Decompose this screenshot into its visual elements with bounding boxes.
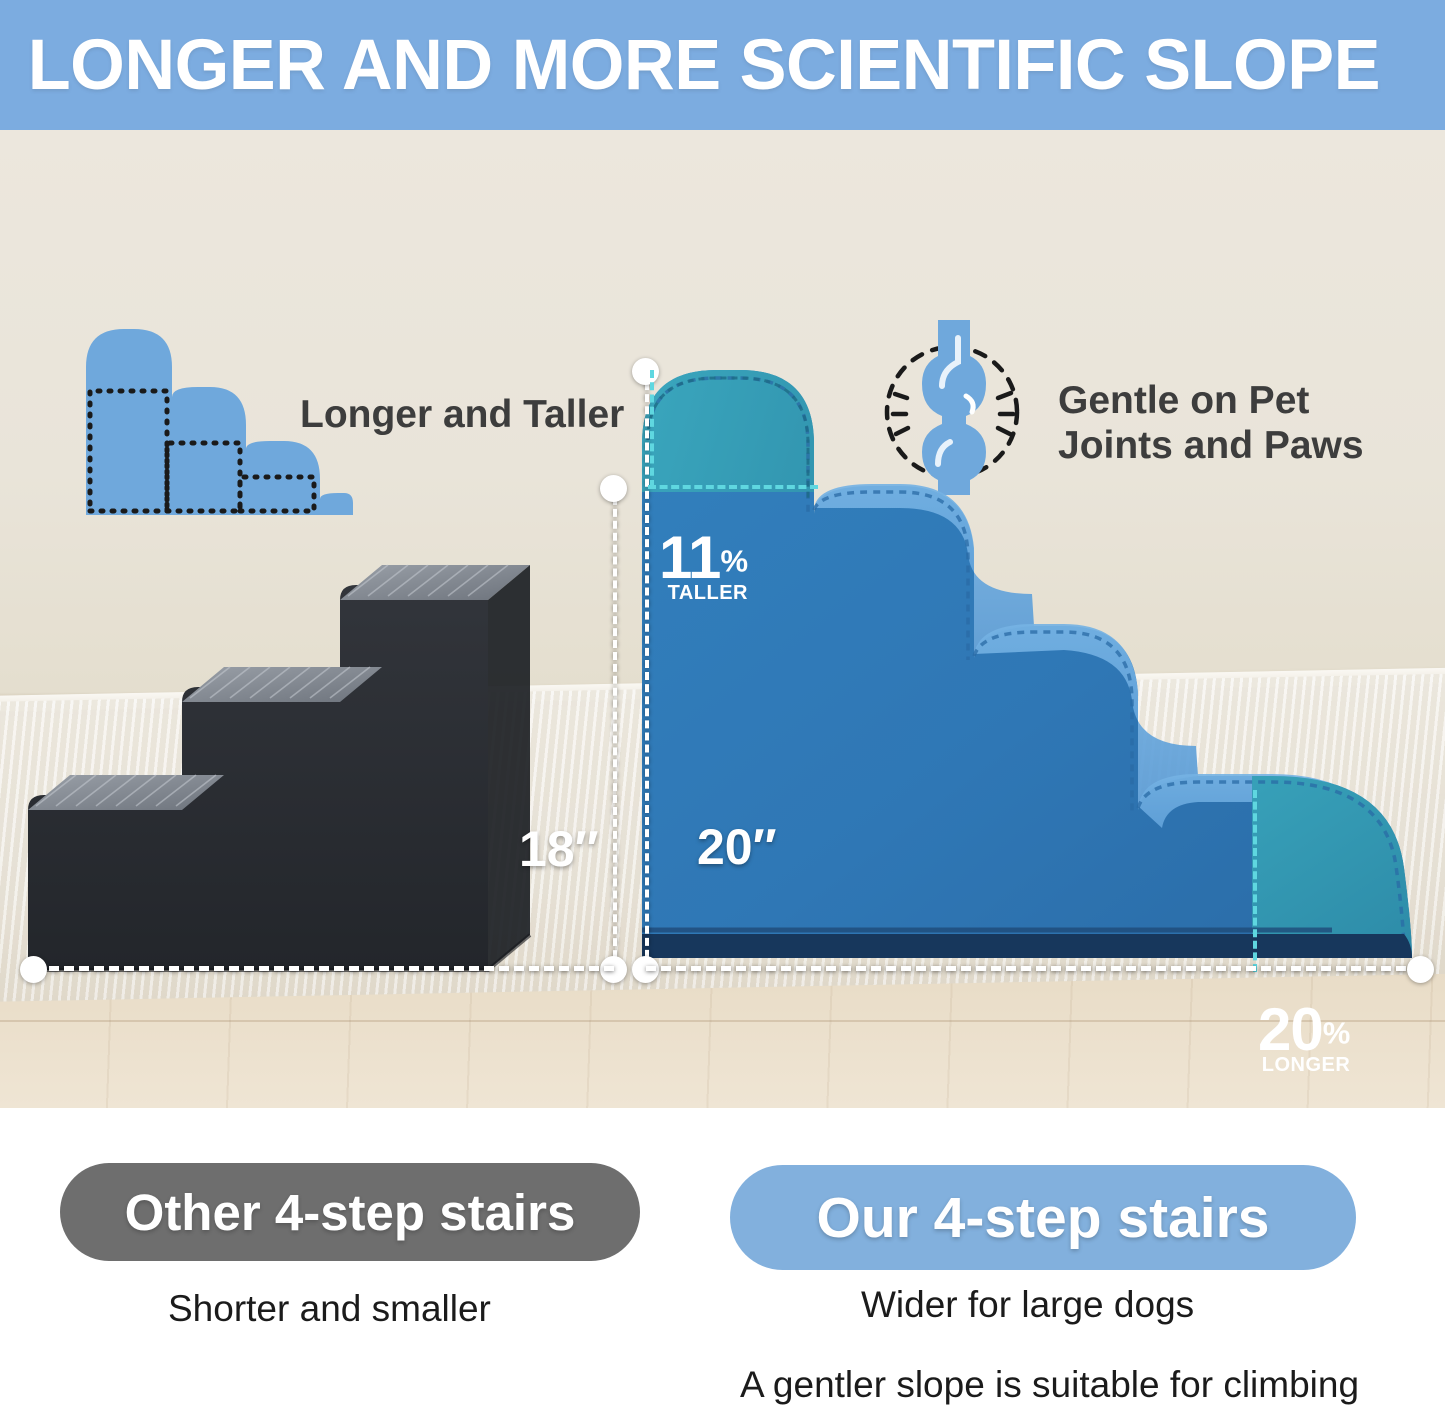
page-title: LONGER AND MORE SCIENTIFIC SLOPE bbox=[0, 25, 1380, 106]
badge-taller-percent: % bbox=[720, 544, 748, 579]
badge-taller-value: 11 bbox=[659, 524, 720, 591]
comparison-summary: Other 4-step stairs Our 4-step stairs Sh… bbox=[0, 1108, 1445, 1399]
taller-band-guide bbox=[648, 485, 818, 489]
other-stairs-product bbox=[10, 475, 625, 975]
measure-dot-29-right bbox=[1407, 956, 1434, 983]
badge-longer: 20% LONGER bbox=[1258, 1000, 1350, 1077]
description-ours-line-1: Wider for large dogs bbox=[861, 1284, 1194, 1326]
measure-dot-other-top bbox=[600, 475, 627, 502]
header-banner: LONGER AND MORE SCIENTIFIC SLOPE bbox=[0, 0, 1445, 130]
dimension-height-ours: 20″ bbox=[697, 818, 777, 876]
height-line-other bbox=[613, 485, 617, 970]
badge-longer-percent: % bbox=[1323, 1016, 1351, 1051]
pill-our-stairs: Our 4-step stairs bbox=[730, 1165, 1356, 1270]
pill-other-stairs: Other 4-step stairs bbox=[60, 1163, 640, 1261]
longer-band-guide bbox=[1253, 790, 1257, 972]
badge-taller: 11% TALLER bbox=[659, 528, 748, 605]
description-ours-line-2: A gentler slope is suitable for climbing bbox=[740, 1364, 1359, 1406]
width-line-other bbox=[34, 966, 614, 971]
dimension-height-other: 18″ bbox=[519, 820, 599, 878]
measure-dot-24-left bbox=[20, 956, 47, 983]
description-other: Shorter and smaller bbox=[168, 1288, 491, 1330]
taller-band-left-guide bbox=[650, 370, 654, 488]
badge-taller-label: TALLER bbox=[659, 582, 748, 605]
measure-dot-ours-top bbox=[632, 358, 659, 385]
badge-longer-value: 20 bbox=[1258, 996, 1323, 1063]
product-comparison-photo: Longer and Taller Gentle on Pet Joints a… bbox=[0, 130, 1445, 1108]
width-line-ours bbox=[646, 966, 1421, 971]
our-stairs-product bbox=[632, 358, 1432, 976]
badge-longer-label: LONGER bbox=[1258, 1054, 1350, 1077]
height-line-ours bbox=[645, 370, 649, 970]
feature-label-longer-taller: Longer and Taller bbox=[300, 392, 624, 437]
